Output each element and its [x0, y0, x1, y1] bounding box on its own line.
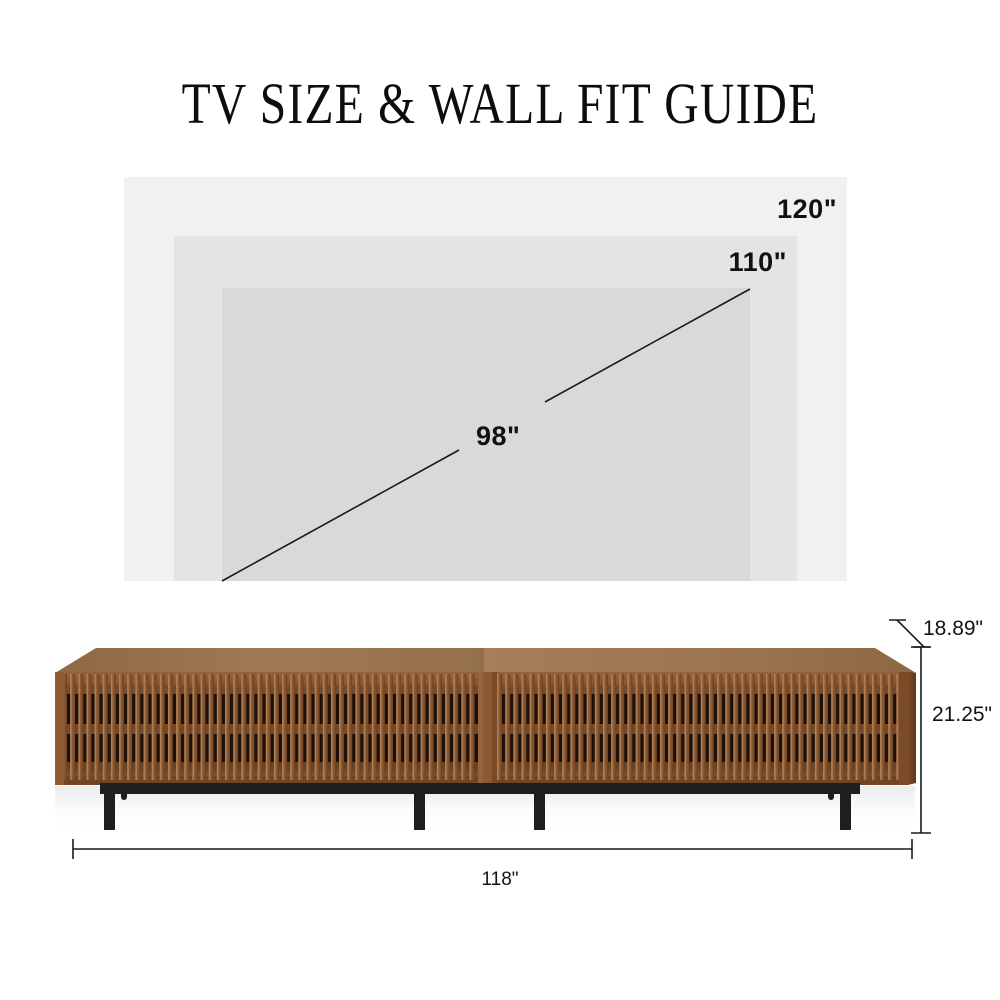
- dimension-width-label: 118": [0, 869, 1000, 891]
- guide-canvas: TV SIZE & WALL FIT GUIDE 120" 110" 98": [0, 0, 1000, 1000]
- dimension-height-label: 21.25": [932, 703, 992, 727]
- dimension-lines: [0, 0, 1000, 1000]
- dimension-depth-label: 18.89": [923, 617, 983, 641]
